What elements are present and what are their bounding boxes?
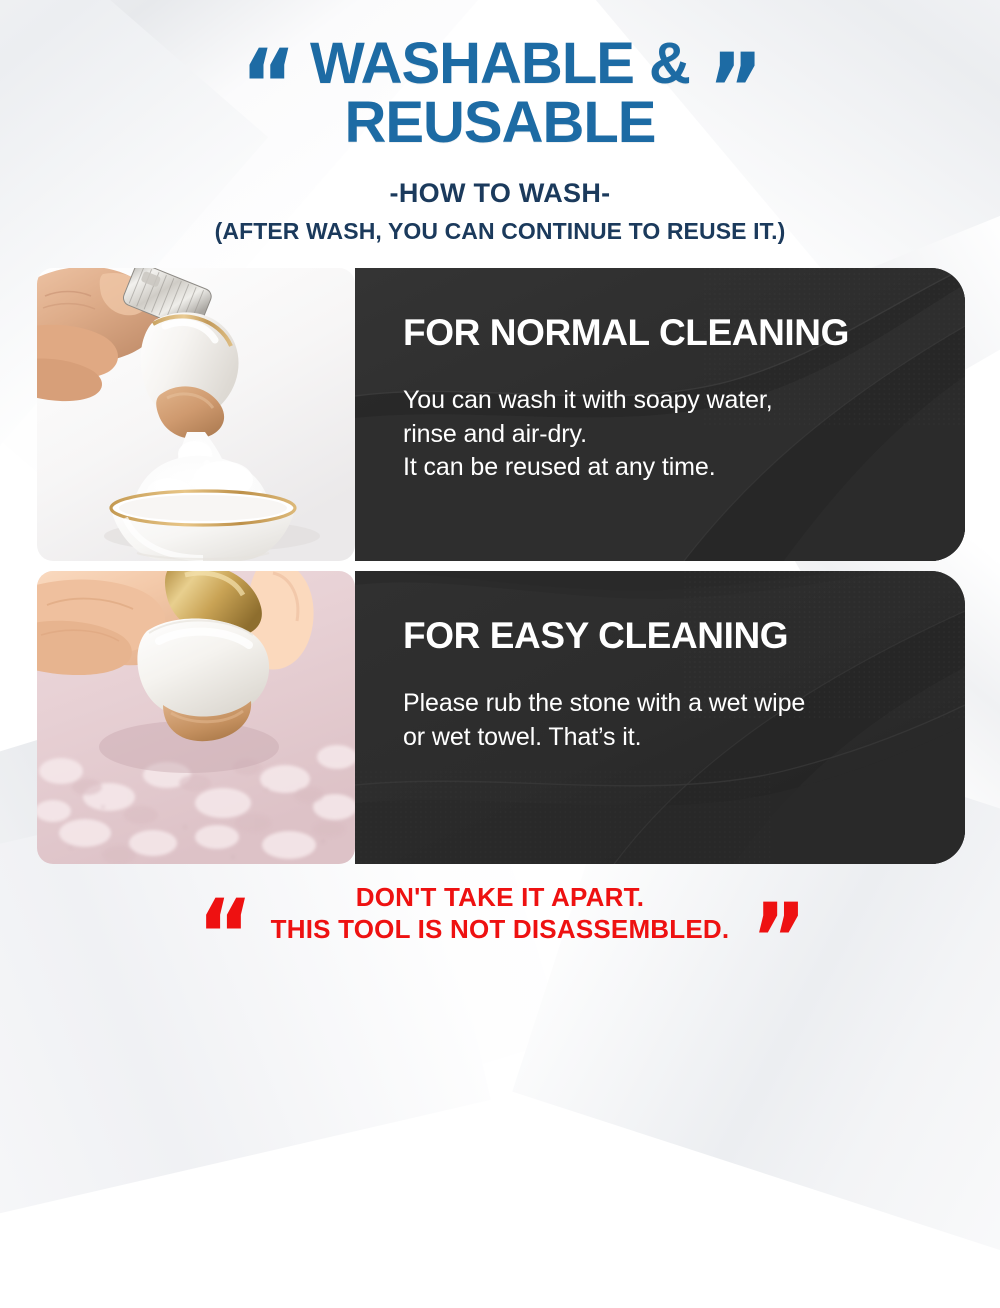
footer-warning: “ DON'T TAKE IT APART. THIS TOOL IS NOT …	[0, 882, 1000, 945]
card-content: FOR NORMAL CLEANING You can wash it with…	[355, 268, 965, 485]
card-body: Please rub the stone with a wet wipe or …	[403, 687, 965, 754]
title-row: “ WASHABLE & REUSABLE ”	[0, 34, 1000, 152]
card-body: You can wash it with soapy water, rinse …	[403, 384, 965, 485]
header: “ WASHABLE & REUSABLE ” -HOW TO WASH- (A…	[0, 0, 1000, 245]
card-easy-cleaning: FOR EASY CLEANING Please rub the stone w…	[355, 571, 965, 864]
quote-open-icon: “	[197, 900, 248, 971]
instruction-rows: FOR NORMAL CLEANING You can wash it with…	[0, 268, 1000, 864]
instruction-row: FOR EASY CLEANING Please rub the stone w…	[0, 571, 1000, 864]
quote-open-icon: “	[241, 51, 292, 122]
foam-bowl-illustration	[37, 268, 355, 561]
towel-rub-illustration	[37, 571, 355, 864]
instruction-row: FOR NORMAL CLEANING You can wash it with…	[0, 268, 1000, 561]
card-title: FOR NORMAL CLEANING	[403, 312, 965, 354]
quote-close-icon: ”	[708, 55, 759, 126]
card-content: FOR EASY CLEANING Please rub the stone w…	[355, 571, 965, 754]
card-normal-cleaning: FOR NORMAL CLEANING You can wash it with…	[355, 268, 965, 561]
subtitle-how-to-wash: -HOW TO WASH-	[0, 178, 1000, 209]
subtitle-reuse-note: (AFTER WASH, YOU CAN CONTINUE TO REUSE I…	[0, 218, 1000, 245]
photo-normal-cleaning	[37, 268, 355, 561]
photo-easy-cleaning	[37, 571, 355, 864]
card-title: FOR EASY CLEANING	[403, 615, 965, 657]
warning-text: DON'T TAKE IT APART. THIS TOOL IS NOT DI…	[271, 882, 730, 945]
page-title: WASHABLE & REUSABLE	[310, 34, 690, 152]
quote-close-icon: ”	[751, 904, 802, 975]
